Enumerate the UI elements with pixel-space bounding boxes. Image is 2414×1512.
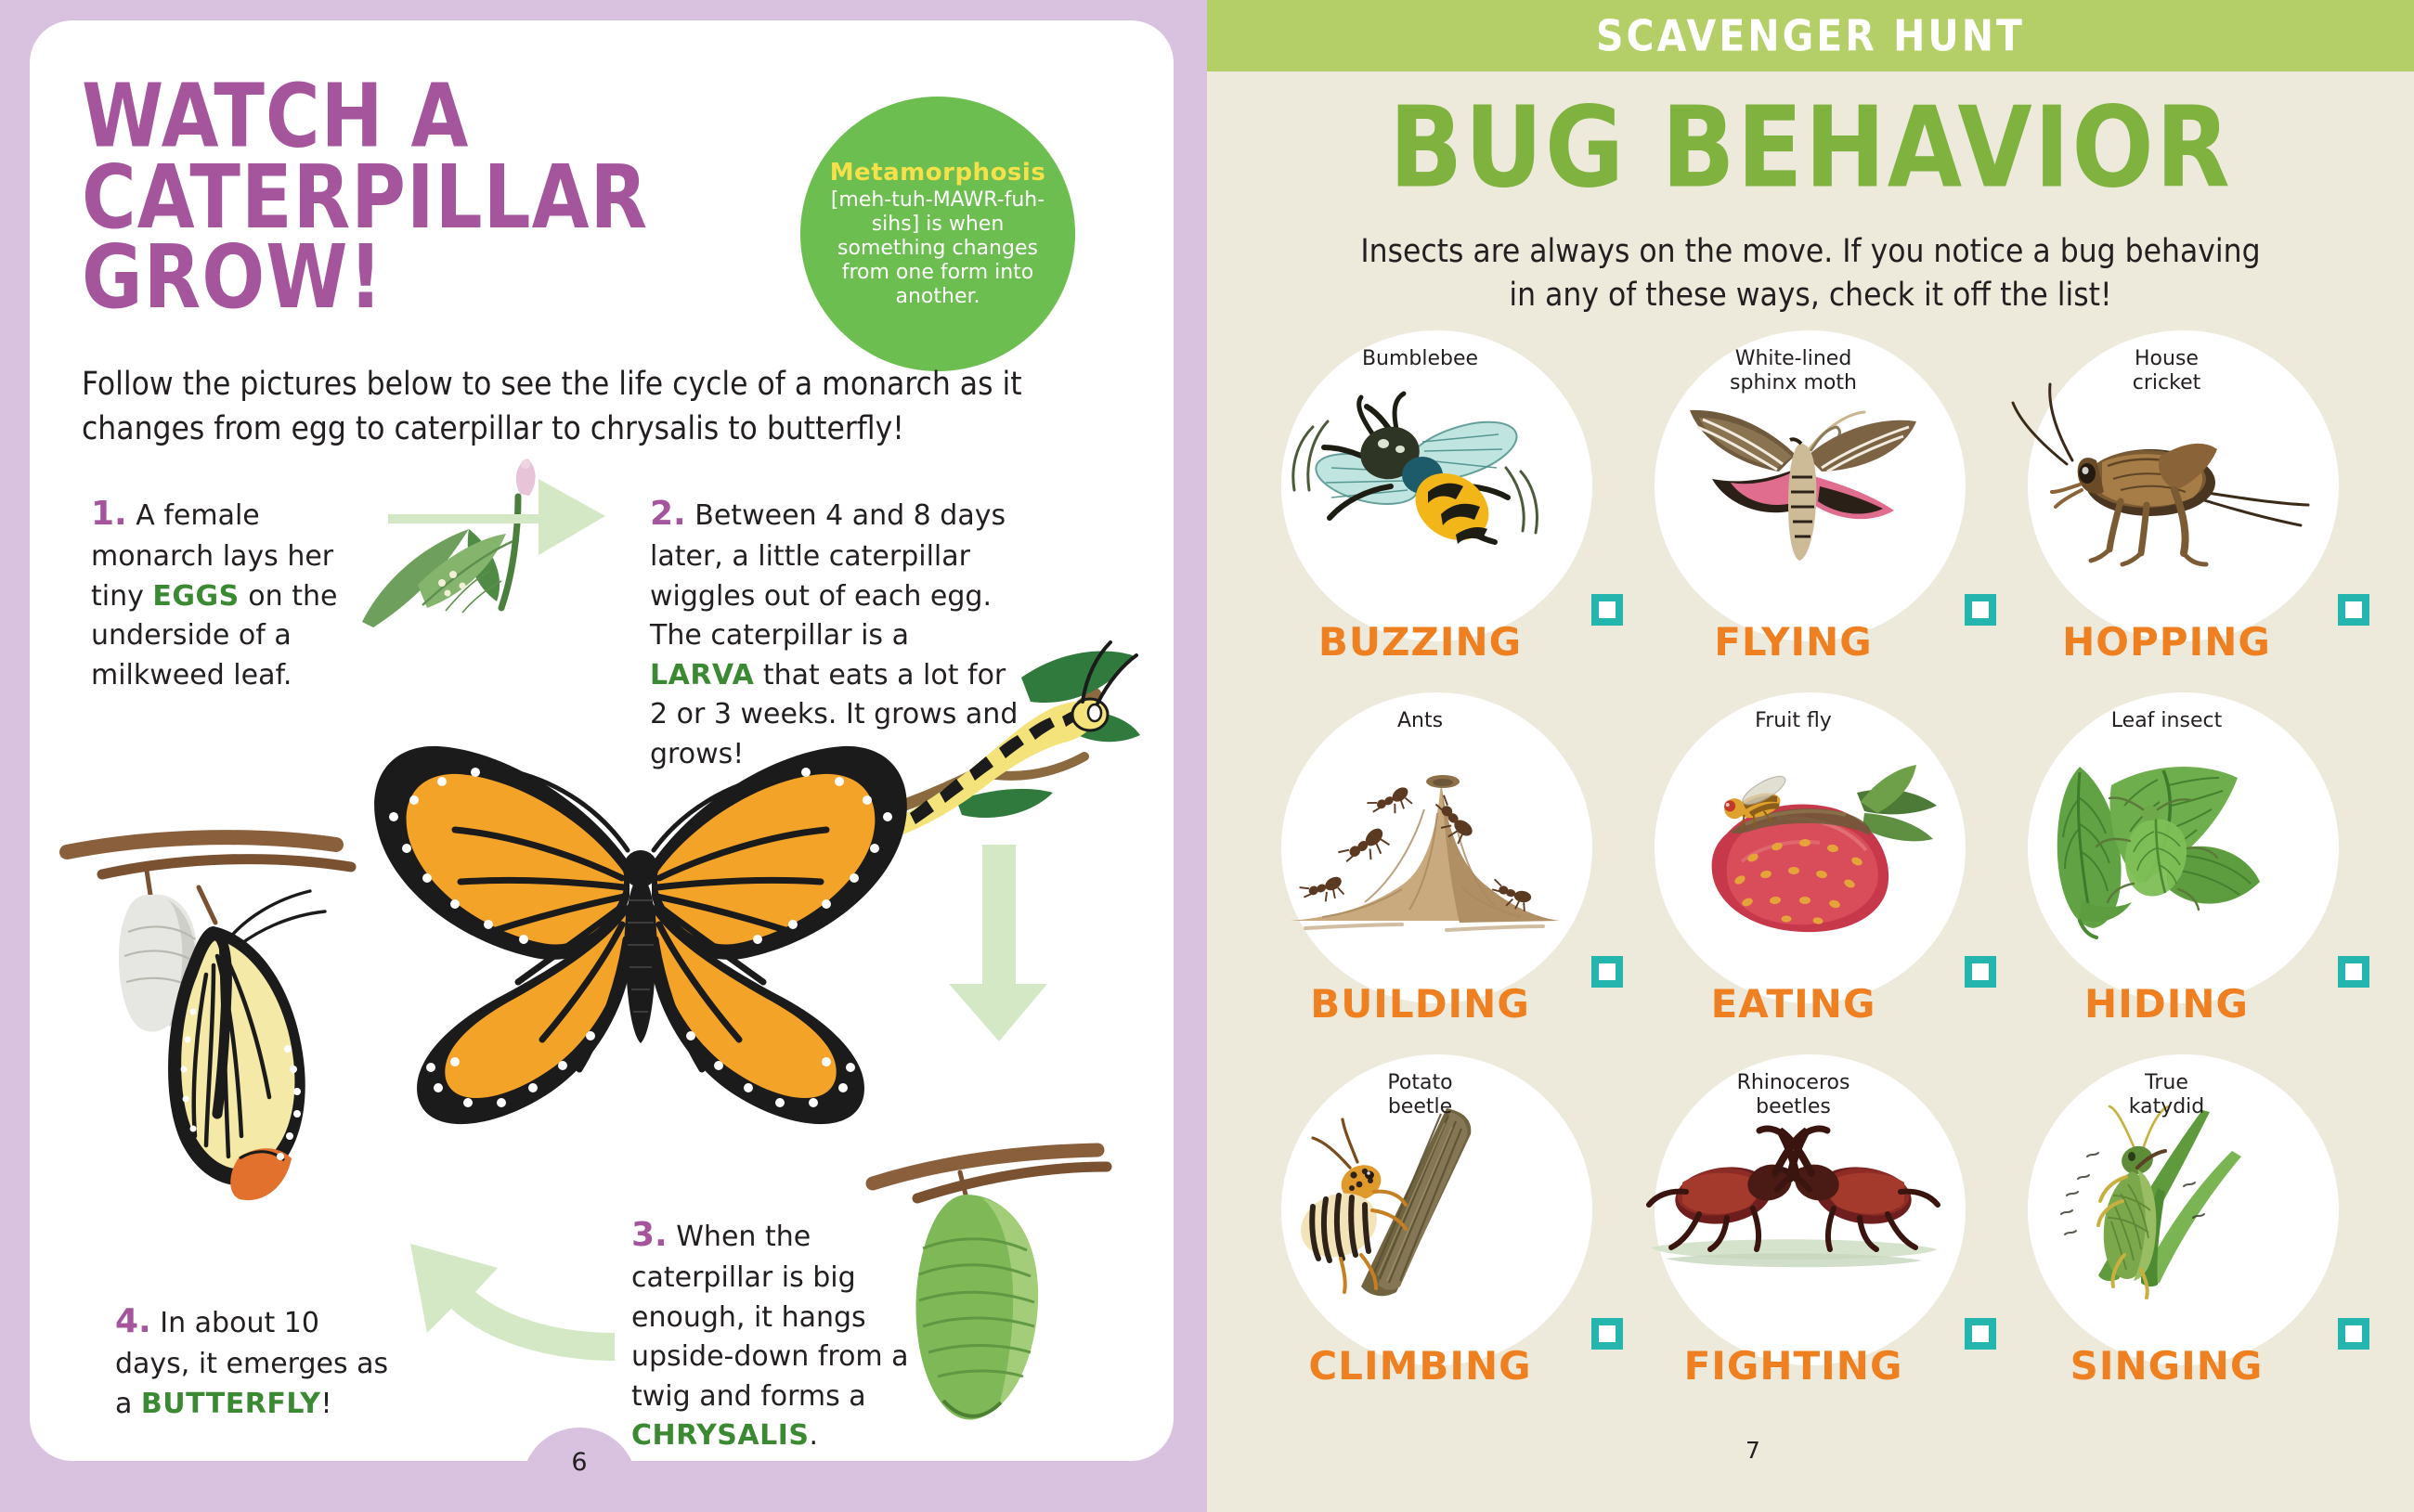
behavior-label: BUILDING — [1265, 981, 1576, 1027]
step-2-keyword: LARVA — [650, 659, 754, 691]
page-number-right: 7 — [1746, 1437, 1760, 1464]
sphinx-moth-icon — [1638, 382, 1949, 577]
checkbox-building[interactable] — [1591, 956, 1623, 988]
step-3-number: 3. — [631, 1216, 668, 1254]
behavior-label: SINGING — [2011, 1343, 2322, 1389]
checkbox-climbing[interactable] — [1591, 1318, 1623, 1350]
insect-name: House cricket — [2011, 347, 2322, 396]
behavior-label: EATING — [1638, 981, 1949, 1027]
hunt-item-singing[interactable]: True katydid — [2011, 1051, 2379, 1403]
checkbox-flying[interactable] — [1965, 594, 1996, 626]
insect-name: Leaf insect — [2011, 709, 2322, 733]
arrow-step2-to-step3 — [928, 835, 1068, 1049]
step-2-number: 2. — [650, 495, 686, 533]
step-4-number: 4. — [115, 1302, 151, 1340]
intro-paragraph-left: Follow the pictures below to see the lif… — [82, 362, 1038, 452]
insect-name: Ants — [1265, 709, 1576, 733]
behavior-label: BUZZING — [1265, 619, 1576, 665]
behavior-label: HIDING — [2011, 981, 2322, 1027]
behavior-label: CLIMBING — [1265, 1343, 1576, 1389]
step-4-keyword: BUTTERFLY — [141, 1388, 321, 1420]
insect-name: Potato beetle — [1265, 1071, 1576, 1120]
hunt-item-hiding[interactable]: Leaf insect — [2011, 689, 2379, 1041]
hunt-item-buzzing[interactable]: Bumblebee — [1265, 327, 1632, 679]
metamorphosis-callout: Metamorphosis [meh-tuh-MAWR-fuh-sihs] is… — [800, 97, 1075, 371]
step-3-text: 3. When the caterpillar is big enough, i… — [631, 1211, 919, 1456]
arrow-step1-to-step2 — [381, 462, 613, 564]
insect-name: Rhinoceros beetles — [1638, 1071, 1949, 1120]
step-2-text-before: Between 4 and 8 days later, a little cat… — [650, 499, 1006, 652]
right-page: SCAVENGER HUNT BUG BEHAVIOR Insects are … — [1207, 0, 2414, 1512]
behavior-label: FLYING — [1638, 619, 1949, 665]
left-page: WATCH A CATERPILLAR GROW! Metamorphosis … — [0, 0, 1207, 1512]
page-title-right: BUG BEHAVIOR — [1207, 82, 2414, 213]
bumblebee-flying-icon — [1265, 382, 1576, 577]
checkbox-hopping[interactable] — [2338, 594, 2369, 626]
house-cricket-icon — [2011, 382, 2322, 577]
katydid-on-grass-icon — [2011, 1106, 2322, 1301]
insect-name: White-lined sphinx moth — [1638, 347, 1949, 396]
hunt-item-flying[interactable]: White-lined sphinx moth — [1638, 327, 2005, 679]
step-1-number: 1. — [91, 495, 127, 533]
checkbox-singing[interactable] — [2338, 1318, 2369, 1350]
callout-term: Metamorphosis — [830, 159, 1046, 187]
step-2-text: 2. Between 4 and 8 days later, a little … — [650, 490, 1021, 775]
behavior-label: FIGHTING — [1638, 1343, 1949, 1389]
step-3-text-before: When the caterpillar is big enough, it h… — [631, 1221, 909, 1413]
intro-paragraph-right: Insects are always on the move. If you n… — [1346, 230, 2275, 317]
anthill-with-ants-icon — [1265, 744, 1576, 939]
potato-beetle-on-stick-icon — [1265, 1106, 1576, 1301]
hunt-item-climbing[interactable]: Potato beetle — [1265, 1051, 1632, 1403]
leaf-insect-icon — [2011, 744, 2322, 939]
checkbox-eating[interactable] — [1965, 956, 1996, 988]
hunt-item-building[interactable]: Ants — [1265, 689, 1632, 1041]
scavenger-hunt-banner: SCAVENGER HUNT — [1207, 0, 2414, 71]
step-3-keyword: CHRYSALIS — [631, 1419, 810, 1452]
hunt-item-eating[interactable]: Fruit fly — [1638, 689, 2005, 1041]
callout-definition: [meh-tuh-MAWR-fuh-sihs] is when somethin… — [828, 188, 1047, 309]
rhinoceros-beetles-icon — [1638, 1106, 1949, 1301]
checkbox-fighting[interactable] — [1965, 1318, 1996, 1350]
step-4-text-after: ! — [321, 1388, 332, 1420]
bug-behavior-grid: Bumblebee — [1265, 327, 2379, 1403]
page-number-left: 6 — [522, 1448, 637, 1477]
step-1-text: 1. A female monarch lays her tiny EGGS o… — [91, 490, 346, 695]
banner-label: SCAVENGER HUNT — [1596, 11, 2025, 61]
insect-name: Fruit fly — [1638, 709, 1949, 733]
step-4-text: 4. In about 10 days, it emerges as a BUT… — [115, 1298, 394, 1424]
fruit-fly-on-strawberry-icon — [1638, 744, 1949, 939]
hunt-item-hopping[interactable]: House cricket — [2011, 327, 2379, 679]
insect-name: Bumblebee — [1265, 347, 1576, 371]
checkbox-buzzing[interactable] — [1591, 594, 1623, 626]
insect-name: True katydid — [2011, 1071, 2322, 1120]
behavior-label: HOPPING — [2011, 619, 2322, 665]
page-title-left: WATCH A CATERPILLAR GROW! — [82, 76, 657, 318]
checkbox-hiding[interactable] — [2338, 956, 2369, 988]
step-1-keyword: EGGS — [152, 580, 239, 613]
step-3-text-after: . — [810, 1419, 819, 1452]
hunt-item-fighting[interactable]: Rhinoceros beetles — [1638, 1051, 2005, 1403]
